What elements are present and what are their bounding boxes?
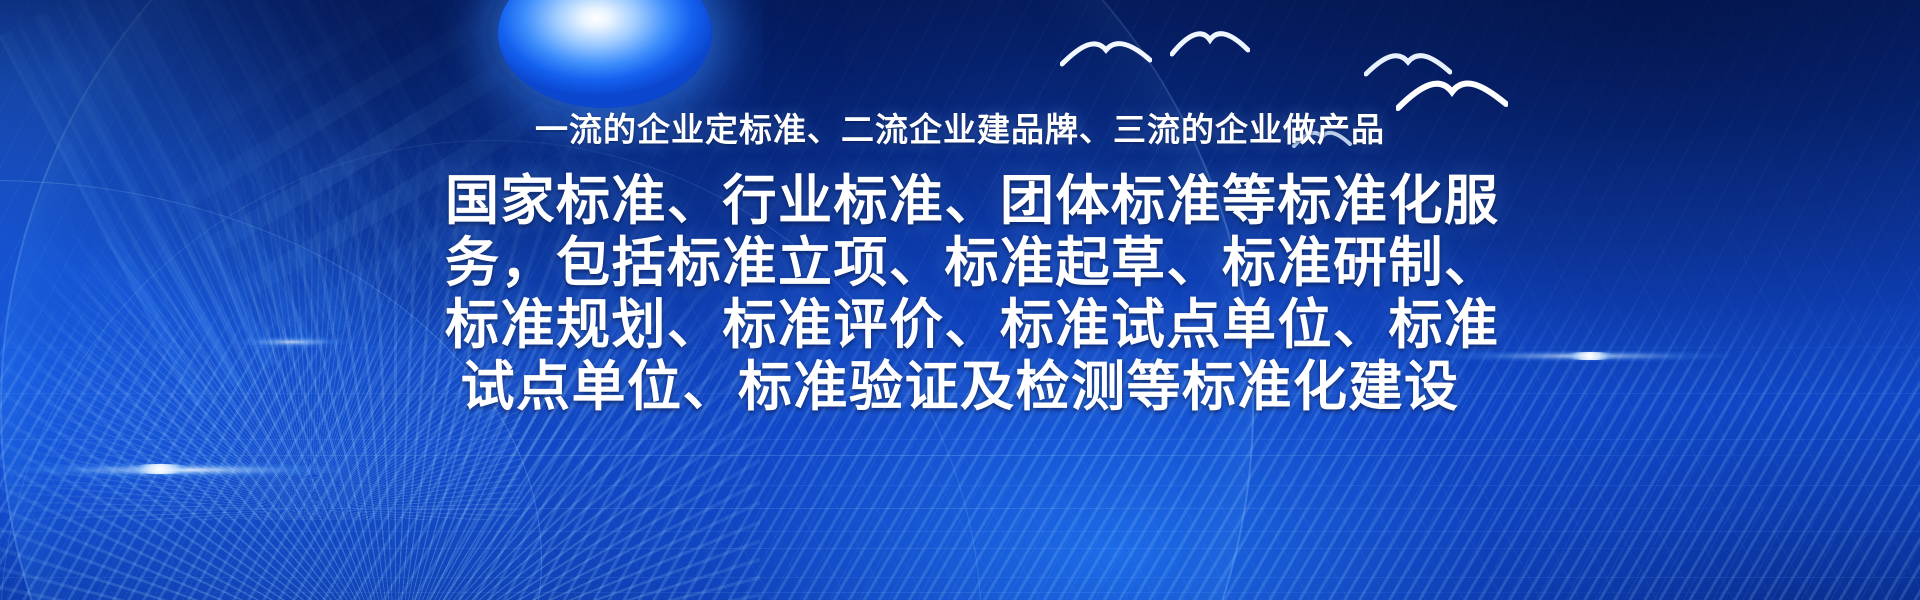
banner-text-content: 一流的企业定标准、二流企业建品牌、三流的企业做产品 国家标准、行业标准、团体标准… (0, 0, 1920, 600)
headline-line: 国家标准、行业标准、团体标准等标准化服 (445, 170, 1475, 232)
banner-headline: 国家标准、行业标准、团体标准等标准化服 务，包括标准立项、标准起草、标准研制、 … (445, 170, 1475, 418)
headline-line: 试点单位、标准验证及检测等标准化建设 (445, 356, 1475, 418)
promo-banner: 一流的企业定标准、二流企业建品牌、三流的企业做产品 国家标准、行业标准、团体标准… (0, 0, 1920, 600)
banner-subtitle: 一流的企业定标准、二流企业建品牌、三流的企业做产品 (535, 112, 1385, 148)
headline-line: 务，包括标准立项、标准起草、标准研制、 (445, 232, 1475, 294)
headline-line: 标准规划、标准评价、标准试点单位、标准 (445, 294, 1475, 356)
